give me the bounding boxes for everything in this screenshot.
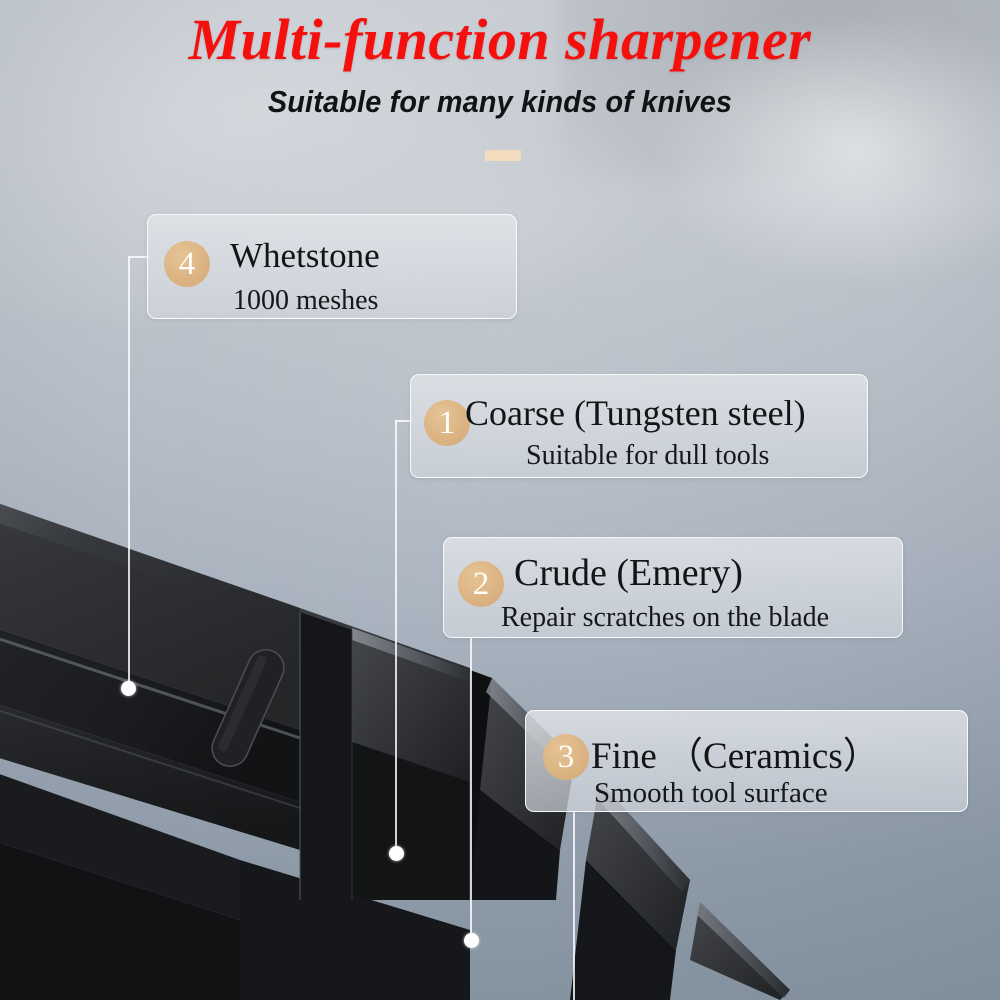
callout-number-badge-2: 2 (458, 561, 504, 607)
callout-number-badge-4: 4 (164, 241, 210, 287)
divider-bar (485, 150, 521, 161)
callout-subtitle-1: Suitable for dull tools (526, 440, 769, 472)
callout-number-badge-1: 1 (424, 400, 470, 446)
page-title: Multi-function sharpener (0, 6, 1000, 73)
leader-line-3-vertical (573, 812, 575, 1000)
callout-crude-emery[interactable]: 2 Crude (Emery) Repair scratches on the … (443, 537, 903, 638)
leader-line-2-vertical (470, 637, 472, 940)
callout-title-1: Coarse (Tungsten steel) (465, 392, 806, 434)
leader-line-1-vertical (395, 420, 397, 852)
callout-whetstone[interactable]: 4 Whetstone 1000 meshes (147, 214, 517, 319)
marker-dot-4 (121, 681, 136, 696)
callout-subtitle-4: 1000 meshes (233, 285, 378, 317)
leader-line-4-vertical (128, 256, 130, 688)
callout-title-3: Fine （Ceramics） (591, 725, 880, 779)
callout-subtitle-3: Smooth tool surface (594, 777, 828, 810)
callout-number-badge-3: 3 (543, 734, 589, 780)
callout-fine-ceramics[interactable]: 3 Fine （Ceramics） Smooth tool surface (525, 710, 968, 812)
callout-coarse-tungsten-steel[interactable]: 1 Coarse (Tungsten steel) Suitable for d… (410, 374, 868, 478)
callout-title-2: Crude (Emery) (514, 551, 743, 595)
marker-dot-2 (464, 933, 479, 948)
callout-title-4: Whetstone (230, 236, 380, 276)
page-subtitle: Suitable for many kinds of knives (35, 84, 965, 120)
callout-subtitle-2: Repair scratches on the blade (501, 602, 829, 634)
product-infographic: Multi-function sharpener Suitable for ma… (0, 0, 1000, 1000)
marker-dot-1 (389, 846, 404, 861)
